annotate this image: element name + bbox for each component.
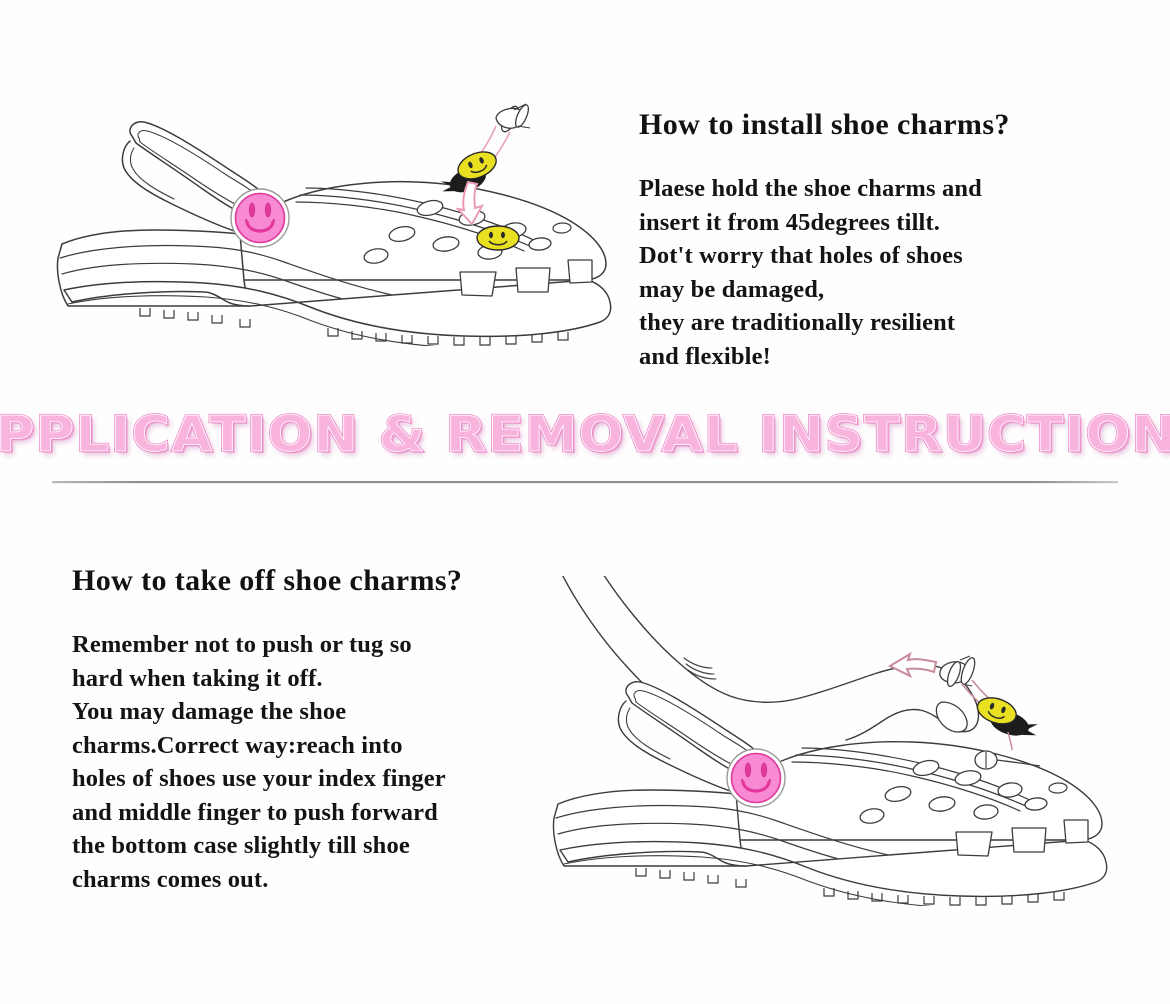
yellow-charm-in-hole [477,226,519,250]
pink-smiley-charm [231,189,289,247]
install-body: Plaese hold the shoe charms and insert i… [639,172,1109,373]
pink-smiley-charm [727,749,785,807]
removal-line-4: charms.Correct way:reach into [72,729,572,763]
removal-body: Remember not to push or tug so hard when… [72,628,572,896]
install-line-4: may be damaged, [639,273,1109,307]
banner-title: APPLICATION & REMOVAL INSTRUCTIONS [0,400,1170,469]
removal-line-3: You may damage the shoe [72,695,572,729]
section-divider [52,481,1118,483]
removal-heading: How to take off shoe charms? [72,564,572,598]
install-line-3: Dot't worry that holes of shoes [639,239,1109,273]
install-line-6: and flexible! [639,340,1109,374]
install-heading: How to install shoe charms? [639,108,1109,142]
install-line-2: insert it from 45degrees tillt. [639,206,1109,240]
removal-line-6: and middle finger to push forward [72,796,572,830]
hand-reaching-into-shoe [558,576,979,740]
removal-line-1: Remember not to push or tug so [72,628,572,662]
removal-line-2: hard when taking it off. [72,662,572,696]
removal-line-5: holes of shoes use your index finger [72,762,572,796]
instruction-sheet: How to install shoe charms? Plaese hold … [0,0,1170,1004]
install-line-5: they are traditionally resilient [639,306,1109,340]
install-instructions-block: How to install shoe charms? Plaese hold … [639,108,1109,373]
clog-shoe-install-diagram [44,96,624,346]
removal-line-7: the bottom case slightly till shoe [72,829,572,863]
clog-shoe-removal-diagram [538,576,1118,906]
removal-instructions-block: How to take off shoe charms? Remember no… [72,564,572,896]
install-line-1: Plaese hold the shoe charms and [639,172,1109,206]
removal-line-8: charms comes out. [72,863,572,897]
banner: APPLICATION & REMOVAL INSTRUCTIONS APPLI… [0,402,1170,470]
